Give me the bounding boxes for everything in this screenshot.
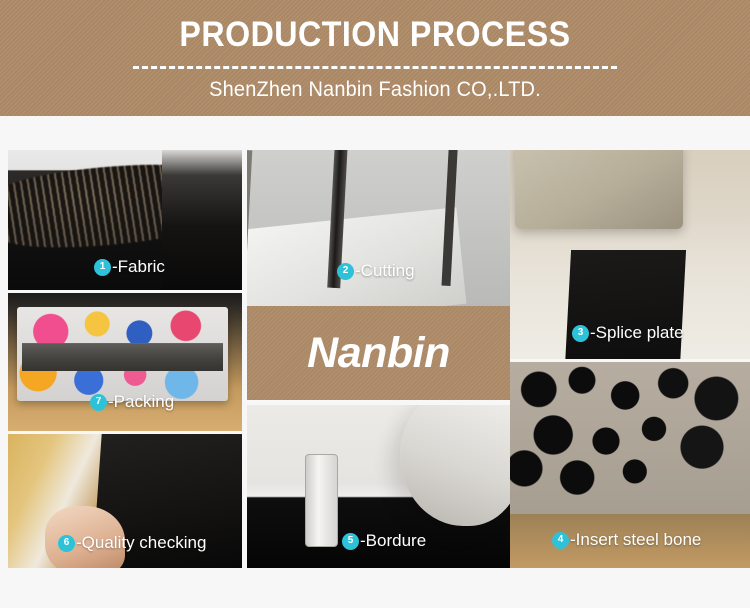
step-caption-7: -Packing	[107, 393, 174, 411]
step-caption-1: -Fabric	[111, 258, 165, 276]
step-badge-7: 7	[90, 394, 107, 411]
process-cell-bordure[interactable]: 5 -Bordure	[247, 405, 510, 568]
step-caption-3: -Splice plate	[589, 324, 684, 342]
production-process-page: PRODUCTION PROCESS ShenZhen Nanbin Fashi…	[0, 0, 750, 608]
step-label-splice-plate: 3 -Splice plate	[572, 324, 684, 342]
step-label-bordure: 5 -Bordure	[342, 532, 426, 550]
step-caption-4: -Insert steel bone	[569, 531, 701, 549]
cutting-photo	[247, 150, 510, 306]
step-label-cutting: 2 -Cutting	[337, 262, 415, 280]
step-label-quality-checking: 6 -Quality checking	[58, 534, 206, 552]
step-badge-4: 4	[552, 532, 569, 549]
process-cell-quality-checking[interactable]: 6 -Quality checking	[8, 434, 242, 568]
step-badge-6: 6	[58, 535, 75, 552]
step-label-insert-steel-bone: 4 -Insert steel bone	[552, 531, 701, 549]
step-caption-5: -Bordure	[359, 532, 426, 550]
process-cell-packing[interactable]: 7 -Packing	[8, 293, 242, 431]
step-badge-3: 3	[572, 325, 589, 342]
process-cell-insert-steel-bone[interactable]: 4 -Insert steel bone	[510, 362, 750, 568]
step-badge-2: 2	[337, 263, 354, 280]
brand-logo-block: Nanbin	[247, 306, 510, 400]
process-cell-cutting[interactable]: 2 -Cutting	[247, 150, 510, 306]
process-photo-grid: 1 -Fabric 7 -Packing 6 -Quality checking	[0, 0, 750, 608]
step-caption-2: -Cutting	[354, 262, 415, 280]
step-badge-1: 1	[94, 259, 111, 276]
step-badge-5: 5	[342, 533, 359, 550]
brand-name: Nanbin	[307, 330, 450, 376]
process-cell-splice-plate[interactable]: 3 -Splice plate	[510, 150, 750, 359]
step-label-packing: 7 -Packing	[90, 393, 174, 411]
process-cell-fabric[interactable]: 1 -Fabric	[8, 150, 242, 290]
step-caption-6: -Quality checking	[75, 534, 206, 552]
step-label-fabric: 1 -Fabric	[94, 258, 165, 276]
